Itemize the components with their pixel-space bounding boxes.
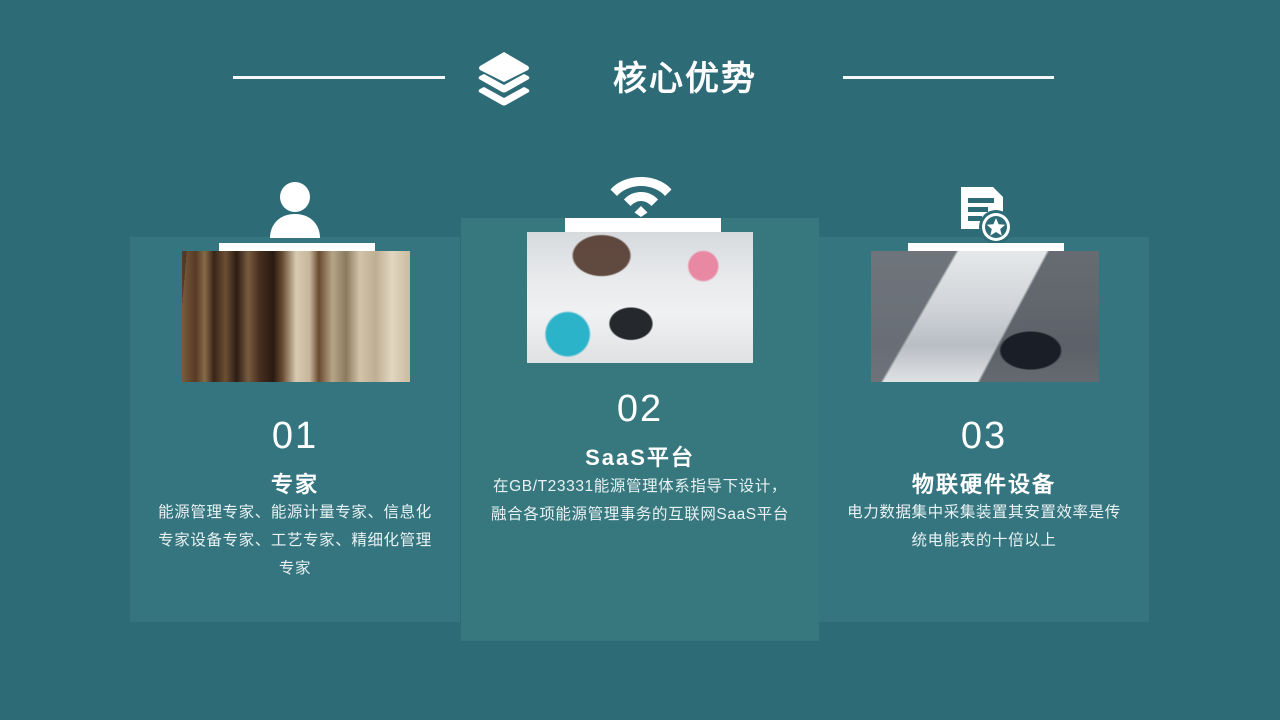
card-1-photo: [182, 251, 410, 382]
certificate-star-icon: [955, 185, 1013, 243]
card-3-photo: [871, 251, 1099, 382]
page-title: 核心优势: [560, 54, 810, 104]
card-1-body: 能源管理专家、能源计量专家、信息化专家设备专家、工艺专家、精细化管理专家: [152, 499, 438, 583]
slide-header: 核心优势: [0, 42, 1280, 112]
card-2-body: 在GB/T23331能源管理体系指导下设计，融合各项能源管理事务的互联网SaaS…: [485, 473, 795, 529]
layers-icon: [472, 48, 536, 112]
advantage-card-1[interactable]: 01 专家 能源管理专家、能源计量专家、信息化专家设备专家、工艺专家、精细化管理…: [130, 237, 460, 622]
header-rule-left: [233, 76, 445, 79]
user-icon: [265, 180, 325, 238]
card-1-title: 专家: [130, 467, 460, 499]
card-3-number: 03: [819, 415, 1149, 458]
card-1-number: 01: [130, 415, 460, 458]
slide-root: 核心优势 01 专家 能源管理专家、能源计量专家、信息化专家设备专家、工艺专家、…: [0, 0, 1280, 720]
card-2-photo: [527, 232, 753, 363]
advantage-card-3[interactable]: 03 物联硬件设备 电力数据集中采集装置其安置效率是传统电能表的十倍以上: [819, 237, 1149, 622]
header-rule-right: [843, 76, 1054, 79]
advantage-card-2[interactable]: 02 SaaS平台 在GB/T23331能源管理体系指导下设计，融合各项能源管理…: [461, 218, 819, 641]
card-3-title: 物联硬件设备: [819, 467, 1149, 499]
wifi-icon: [610, 173, 672, 217]
card-2-title: SaaS平台: [461, 440, 819, 472]
card-3-body: 电力数据集中采集装置其安置效率是传统电能表的十倍以上: [841, 499, 1127, 555]
card-2-number: 02: [461, 388, 819, 431]
